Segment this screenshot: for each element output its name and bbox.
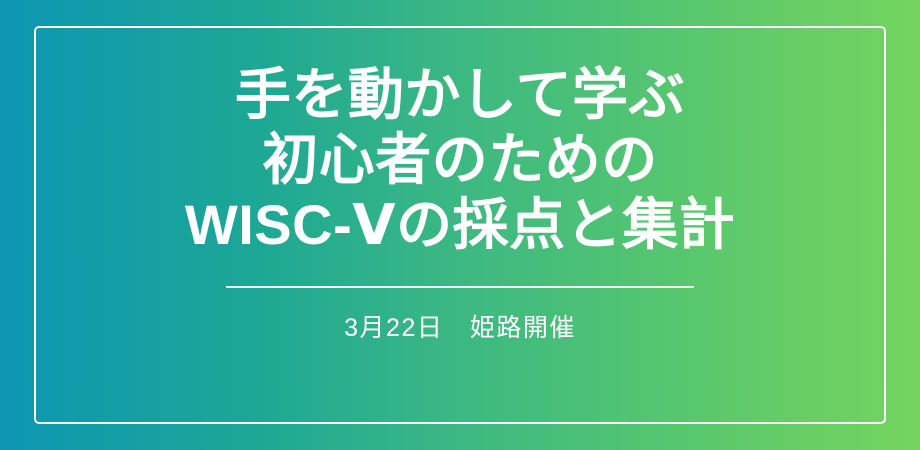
title-line-1: 手を動かして学ぶ [185,62,735,127]
event-date-location: 3月22日 姫路開催 [344,313,576,343]
title-line-3: WISC-Ⅴの採点と集計 [185,192,735,257]
title-divider [226,286,694,288]
banner-title: 手を動かして学ぶ 初心者のための WISC-Ⅴの採点と集計 [185,62,735,257]
event-banner: 手を動かして学ぶ 初心者のための WISC-Ⅴの採点と集計 3月22日 姫路開催 [0,0,920,450]
banner-content: 手を動かして学ぶ 初心者のための WISC-Ⅴの採点と集計 3月22日 姫路開催 [0,0,920,450]
title-line-2: 初心者のための [185,127,735,192]
